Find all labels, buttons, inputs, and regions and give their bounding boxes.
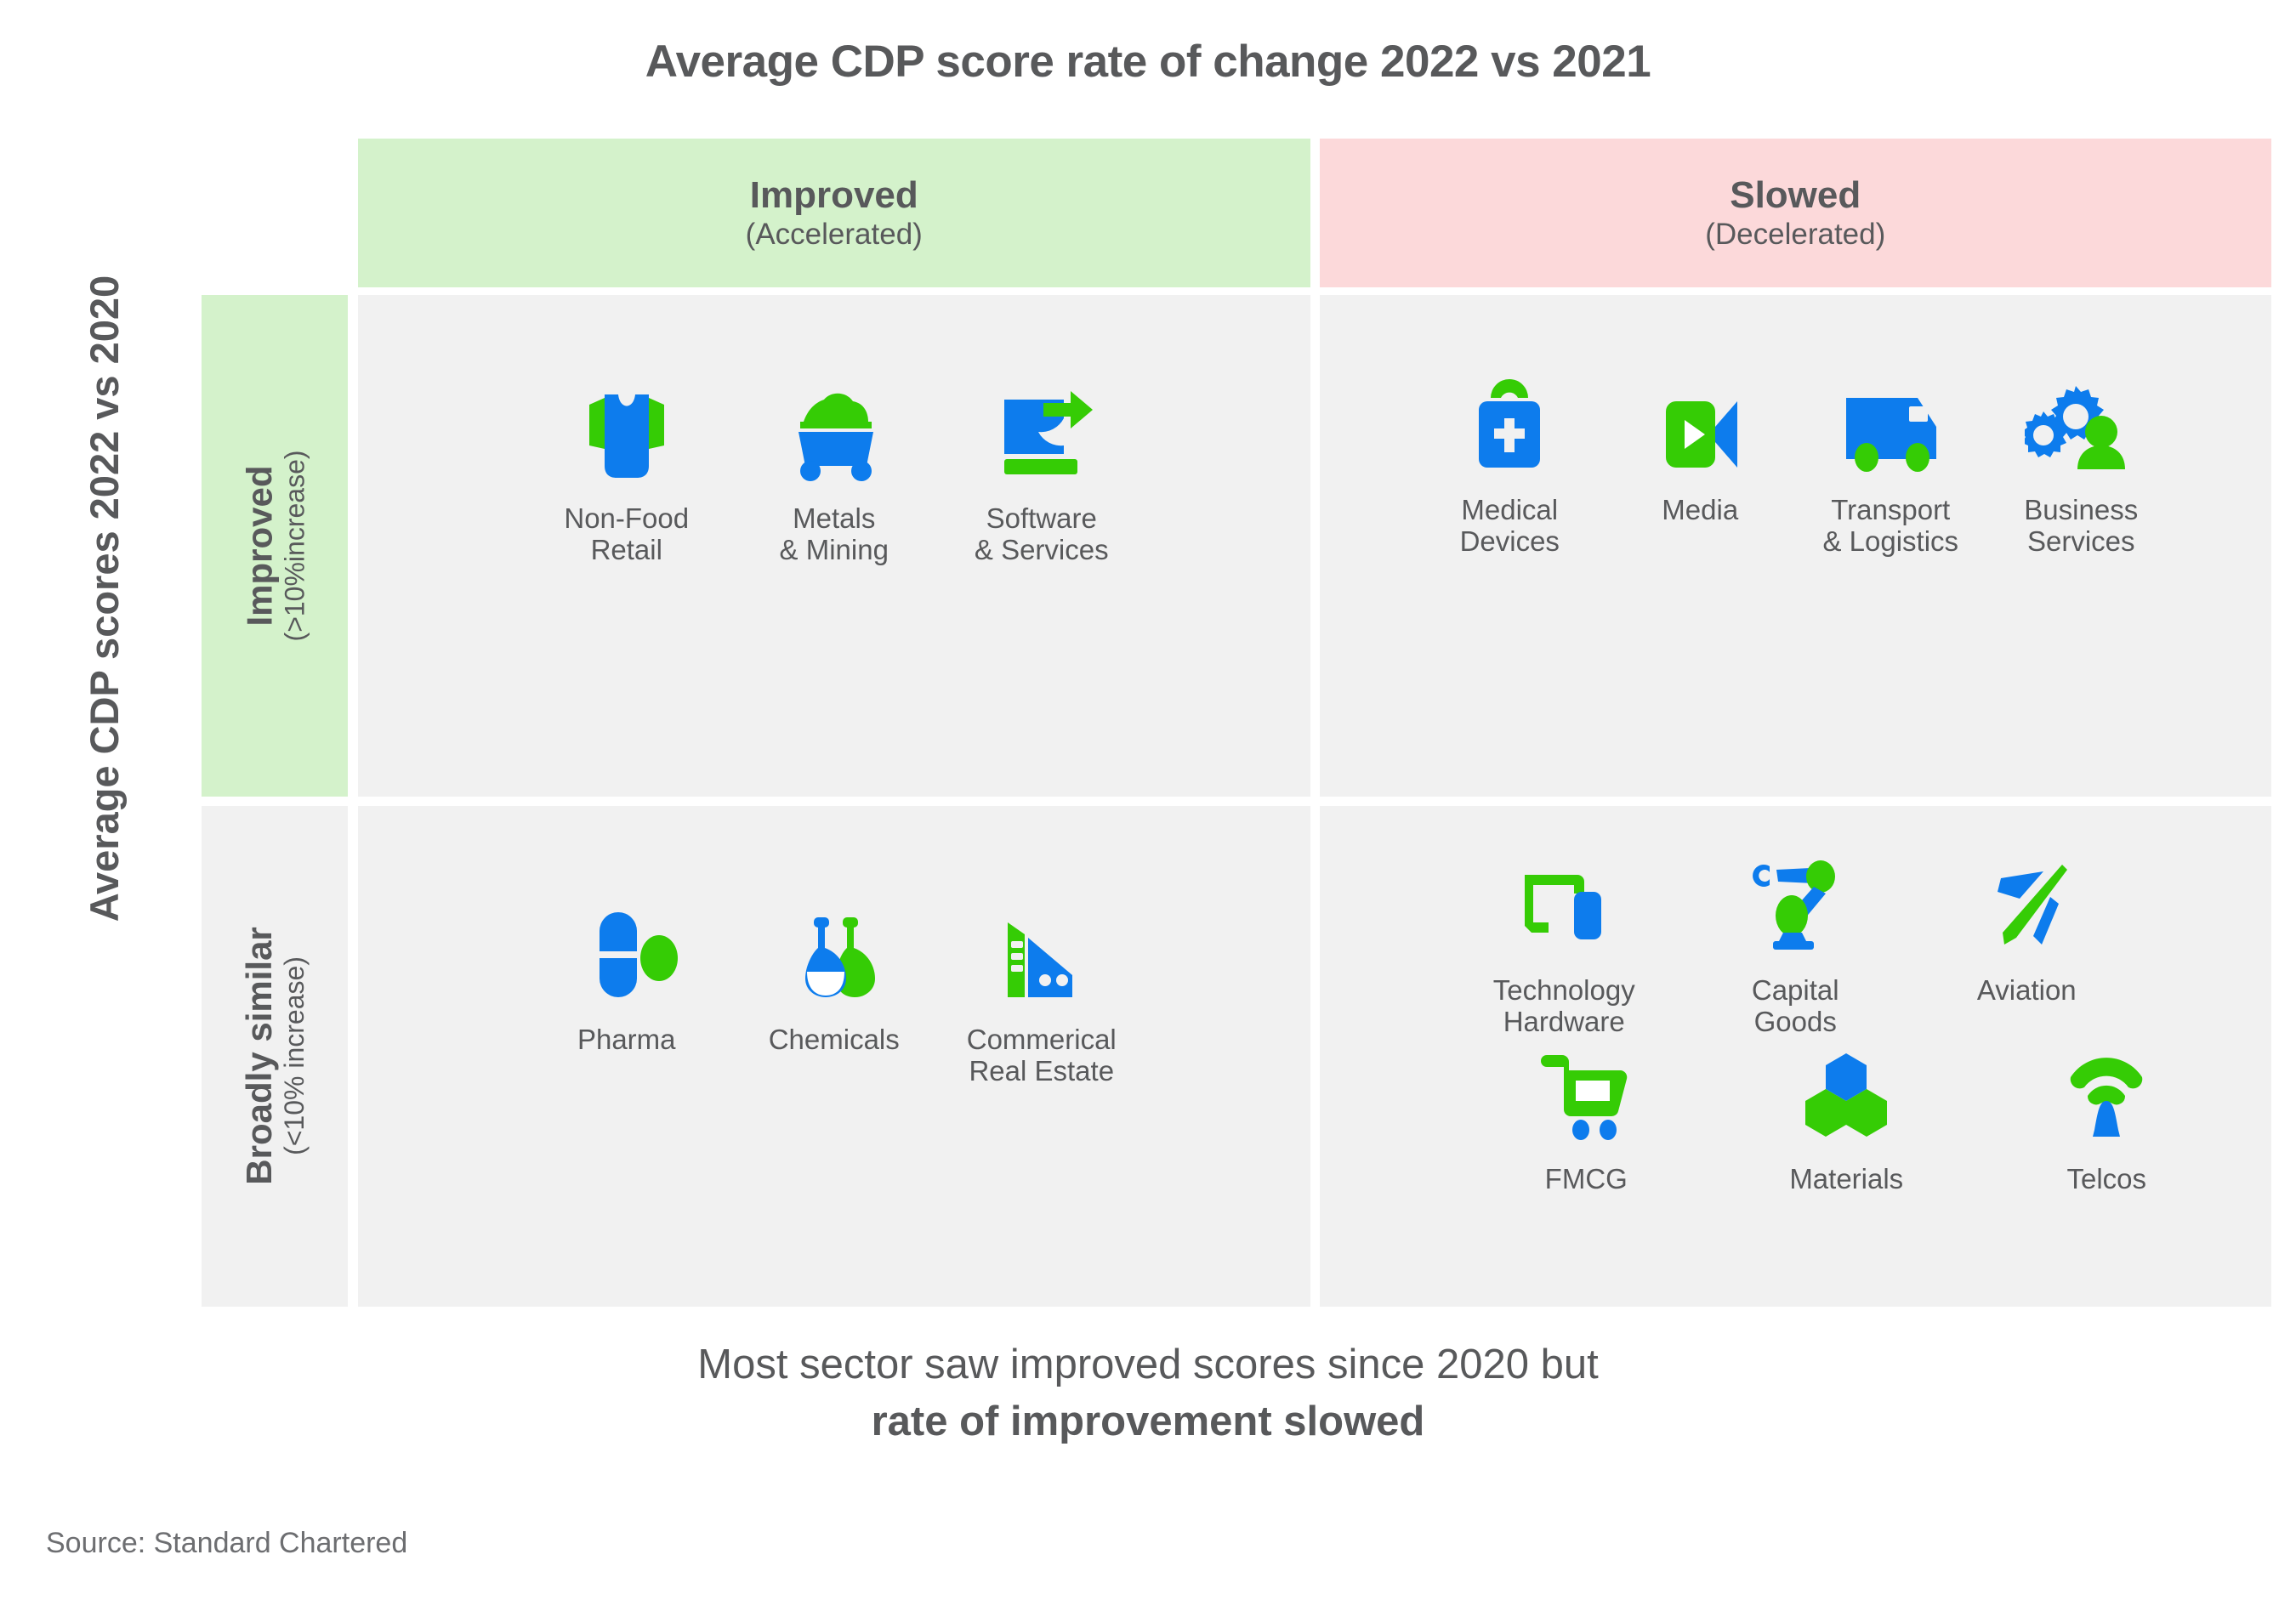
sector-label: Media [1662, 494, 1738, 525]
sector-label: Materials [1789, 1163, 1903, 1194]
sector-chemicals: Chemicals [751, 906, 918, 1055]
shopping-cart-icon [1527, 1046, 1645, 1146]
row-header-broadly-similar-subtitle: (<10% increase) [280, 928, 310, 1185]
sector-metals-mining: Metals & Mining [751, 385, 918, 566]
column-header-improved: Improved (Accelerated) [358, 139, 1310, 287]
sector-label: Commerical Real Estate [967, 1024, 1117, 1087]
sector-telcos: Telcos [2015, 1046, 2197, 1194]
column-header-slowed-subtitle: (Decelerated) [1705, 218, 1885, 250]
source-note: Source: Standard Chartered [46, 1527, 407, 1560]
signal-tower-icon [2048, 1046, 2165, 1146]
sector-materials: Materials [1755, 1046, 1937, 1194]
chart-root: Average CDP score rate of change 2022 vs… [0, 0, 2296, 1617]
hexagons-icon [1787, 1046, 1905, 1146]
row-header-broadly-similar-title: Broadly similar [240, 928, 278, 1185]
sector-label: Chemicals [769, 1024, 900, 1055]
sector-label: Transport & Logistics [1822, 494, 1958, 558]
column-header-slowed: Slowed (Decelerated) [1320, 139, 2272, 287]
sector-non-food-retail: Non-Food Retail [543, 385, 710, 566]
sector-technology-hardware: Technology Hardware [1473, 857, 1655, 1038]
sector-label: Software & Services [975, 502, 1109, 566]
tshirt-icon [568, 385, 685, 485]
sector-medical-devices: Medical Devices [1426, 377, 1593, 558]
software-export-icon [983, 385, 1100, 485]
buildings-icon [983, 906, 1100, 1007]
sector-pharma: Pharma [543, 906, 710, 1055]
sector-label: Business Services [2024, 494, 2138, 558]
row-header-improved-subtitle: (>10%increase) [280, 450, 310, 641]
pill-capsule-icon [568, 906, 685, 1007]
robot-arm-icon [1736, 857, 1854, 957]
quadrant-grid: Non-Food Retail Metals & Mining [358, 295, 2271, 1307]
column-headers: Improved (Accelerated) Slowed (Decelerat… [358, 139, 2271, 287]
row-header-broadly-similar: Broadly similar (<10% increase) [202, 806, 348, 1308]
sector-business-services: Business Services [1998, 377, 2164, 558]
sector-label: Aviation [1977, 974, 2077, 1006]
sector-aviation: Aviation [1935, 857, 2117, 1038]
medical-bag-icon [1451, 377, 1568, 477]
quadrant-improved-improved: Non-Food Retail Metals & Mining [358, 295, 1310, 797]
sector-label: Metals & Mining [780, 502, 889, 566]
page-title: Average CDP score rate of change 2022 vs… [0, 36, 2296, 88]
flask-icon [776, 906, 893, 1007]
airplane-icon [1968, 857, 2085, 957]
y-axis-label: Average CDP scores 2022 vs 2020 [73, 122, 134, 1075]
sector-label: Pharma [577, 1024, 676, 1055]
quadrant-slowed-improved: Medical Devices Media [1320, 295, 2272, 797]
sector-transport-logistics: Transport & Logistics [1807, 377, 1974, 558]
sector-label: FMCG [1545, 1163, 1628, 1194]
mining-cart-icon [776, 385, 893, 485]
caption-line-2: rate of improvement slowed [0, 1397, 2296, 1447]
sector-capital-goods: Capital Goods [1704, 857, 1886, 1038]
devices-icon [1505, 857, 1623, 957]
sector-label: Technology Hardware [1493, 974, 1635, 1038]
sector-fmcg: FMCG [1495, 1046, 1677, 1194]
column-header-improved-subtitle: (Accelerated) [746, 218, 923, 250]
chart-caption: Most sector saw improved scores since 20… [0, 1340, 2296, 1447]
column-header-slowed-title: Slowed [1730, 176, 1861, 216]
row-headers: Improved (>10%increase) Broadly similar … [202, 295, 348, 1307]
gears-person-icon [2022, 377, 2140, 477]
sector-label: Telcos [2066, 1163, 2146, 1194]
sector-label: Medical Devices [1460, 494, 1560, 558]
video-play-icon [1641, 377, 1759, 477]
caption-line-1: Most sector saw improved scores since 20… [0, 1340, 2296, 1390]
column-header-improved-title: Improved [750, 176, 918, 216]
sector-media: Media [1617, 377, 1783, 525]
sector-label: Non-Food Retail [564, 502, 689, 566]
sector-software-services: Software & Services [958, 385, 1125, 566]
row-header-improved-title: Improved [240, 450, 278, 641]
row-header-improved: Improved (>10%increase) [202, 295, 348, 797]
sector-commercial-real-estate: Commerical Real Estate [958, 906, 1125, 1087]
sector-label: Capital Goods [1752, 974, 1839, 1038]
quadrant-improved-broadly-similar: Pharma Chemicals [358, 806, 1310, 1308]
quadrant-slowed-broadly-similar: Technology Hardware [1320, 806, 2272, 1308]
delivery-truck-icon [1832, 377, 1949, 477]
